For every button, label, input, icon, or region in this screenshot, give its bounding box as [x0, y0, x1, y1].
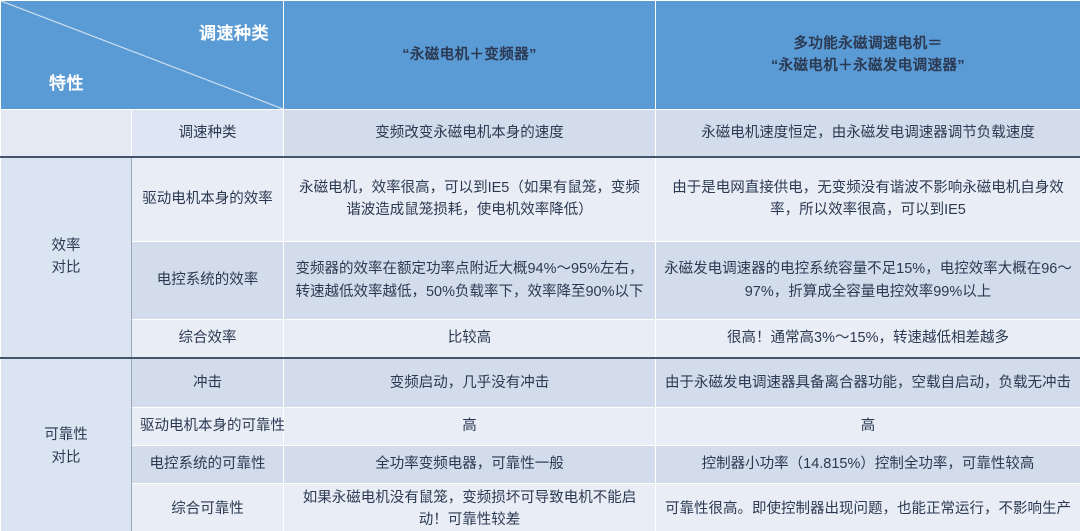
diagonal-divider-icon: [1, 1, 283, 109]
header-col2-title: “永磁电机＋变频器”: [284, 1, 656, 110]
comparison-table-page: 调速种类 特性 “永磁电机＋变频器” 多功能永磁调速电机＝ “永磁电机＋永磁发电…: [0, 0, 1080, 531]
row-7-col2: 如果永磁电机没有鼠笼，变频损坏可导致电机不能启动！可靠性较差: [284, 484, 656, 531]
row-4-feature: 冲击: [132, 358, 284, 408]
row-1-col2: 永磁电机，效率很高，可以到IE5（如果有鼠笼，变频谐波造成鼠笼损耗，使电机效率降…: [284, 157, 656, 242]
table-row: 可靠性 对比 冲击 变频启动，几乎没有冲击 由于永磁发电调速器具备离合器功能，空…: [1, 358, 1080, 408]
row-1-col3: 由于是电网直接供电，无变频没有谐波不影响永磁电机自身效率，所以效率很高，可以到I…: [656, 157, 1080, 242]
row-0-group-cell: [1, 110, 132, 157]
row-0-feature: 调速种类: [132, 110, 284, 157]
header-corner-cell: 调速种类 特性: [1, 1, 284, 110]
header-corner-column-label: 调速种类: [199, 21, 269, 47]
header-col3-title-line2: “永磁电机＋永磁发电调速器”: [771, 58, 965, 74]
header-col3-title-line1: 多功能永磁调速电机＝: [794, 36, 943, 52]
row-0-col2: 变频改变永磁电机本身的速度: [284, 110, 656, 157]
group-label-reliability: 可靠性 对比: [1, 358, 132, 531]
row-6-col2: 全功率变频电器，可靠性一般: [284, 446, 656, 484]
table-row: 电控系统的效率 变频器的效率在额定功率点附近大概94%～95%左右，转速越低效率…: [1, 242, 1080, 320]
row-0-col3: 永磁电机速度恒定，由永磁发电调速器调节负载速度: [656, 110, 1080, 157]
header-corner-row-label: 特性: [49, 71, 84, 97]
table-row: 电控系统的可靠性 全功率变频电器，可靠性一般 控制器小功率（14.815%）控制…: [1, 446, 1080, 484]
group-label-reliability-line2: 对比: [9, 447, 123, 469]
table-header-row: 调速种类 特性 “永磁电机＋变频器” 多功能永磁调速电机＝ “永磁电机＋永磁发电…: [1, 1, 1080, 110]
row-4-col2: 变频启动，几乎没有冲击: [284, 358, 656, 408]
table-row: 调速种类 变频改变永磁电机本身的速度 永磁电机速度恒定，由永磁发电调速器调节负载…: [1, 110, 1080, 157]
comparison-table: 调速种类 特性 “永磁电机＋变频器” 多功能永磁调速电机＝ “永磁电机＋永磁发电…: [0, 0, 1080, 531]
row-6-col3: 控制器小功率（14.815%）控制全功率，可靠性较高: [656, 446, 1080, 484]
row-2-feature: 电控系统的效率: [132, 242, 284, 320]
group-label-reliability-line1: 可靠性: [9, 424, 123, 446]
row-7-col3: 可靠性很高。即使控制器出现问题，也能正常运行，不影响生产: [656, 484, 1080, 531]
table-row: 综合可靠性 如果永磁电机没有鼠笼，变频损坏可导致电机不能启动！可靠性较差 可靠性…: [1, 484, 1080, 531]
row-5-feature: 驱动电机本身的可靠性: [132, 408, 284, 446]
group-label-efficiency-line2: 对比: [9, 257, 123, 279]
row-7-feature: 综合可靠性: [132, 484, 284, 531]
row-3-col2: 比较高: [284, 320, 656, 358]
row-1-feature: 驱动电机本身的效率: [132, 157, 284, 242]
header-col3-title: 多功能永磁调速电机＝ “永磁电机＋永磁发电调速器”: [656, 1, 1080, 110]
group-label-efficiency: 效率 对比: [1, 157, 132, 358]
table-row: 效率 对比 驱动电机本身的效率 永磁电机，效率很高，可以到IE5（如果有鼠笼，变…: [1, 157, 1080, 242]
row-2-col2: 变频器的效率在额定功率点附近大概94%～95%左右，转速越低效率越低，50%负载…: [284, 242, 656, 320]
row-3-col3: 很高！通常高3%～15%，转速越低相差越多: [656, 320, 1080, 358]
row-3-feature: 综合效率: [132, 320, 284, 358]
group-label-efficiency-line1: 效率: [9, 235, 123, 257]
row-6-feature: 电控系统的可靠性: [132, 446, 284, 484]
row-4-col3: 由于永磁发电调速器具备离合器功能，空载自启动，负载无冲击: [656, 358, 1080, 408]
row-5-col3: 高: [656, 408, 1080, 446]
row-5-col2: 高: [284, 408, 656, 446]
table-row: 驱动电机本身的可靠性 高 高: [1, 408, 1080, 446]
row-2-col3: 永磁发电调速器的电控系统容量不足15%，电控效率大概在96～97%，折算成全容量…: [656, 242, 1080, 320]
table-row: 综合效率 比较高 很高！通常高3%～15%，转速越低相差越多: [1, 320, 1080, 358]
